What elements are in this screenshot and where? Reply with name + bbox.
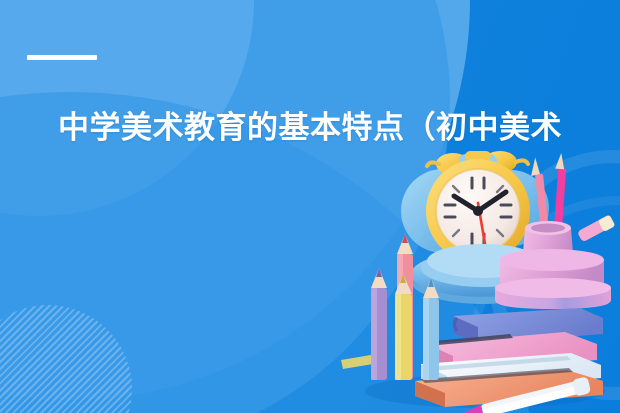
pencil-yellow xyxy=(395,274,412,380)
cup-pencil-pink xyxy=(554,153,566,233)
pencil-blue xyxy=(423,278,439,380)
colored-pencils xyxy=(341,234,439,380)
pencil-purple xyxy=(371,268,387,380)
study-supplies-illustration xyxy=(335,148,620,413)
eraser-icon xyxy=(577,214,616,242)
page-title: 中学美术教育的基本特点（初中美术 xyxy=(58,107,603,149)
title-rule xyxy=(27,55,97,60)
promo-banner: 中学美术教育的基本特点（初中美术 xyxy=(0,0,620,413)
